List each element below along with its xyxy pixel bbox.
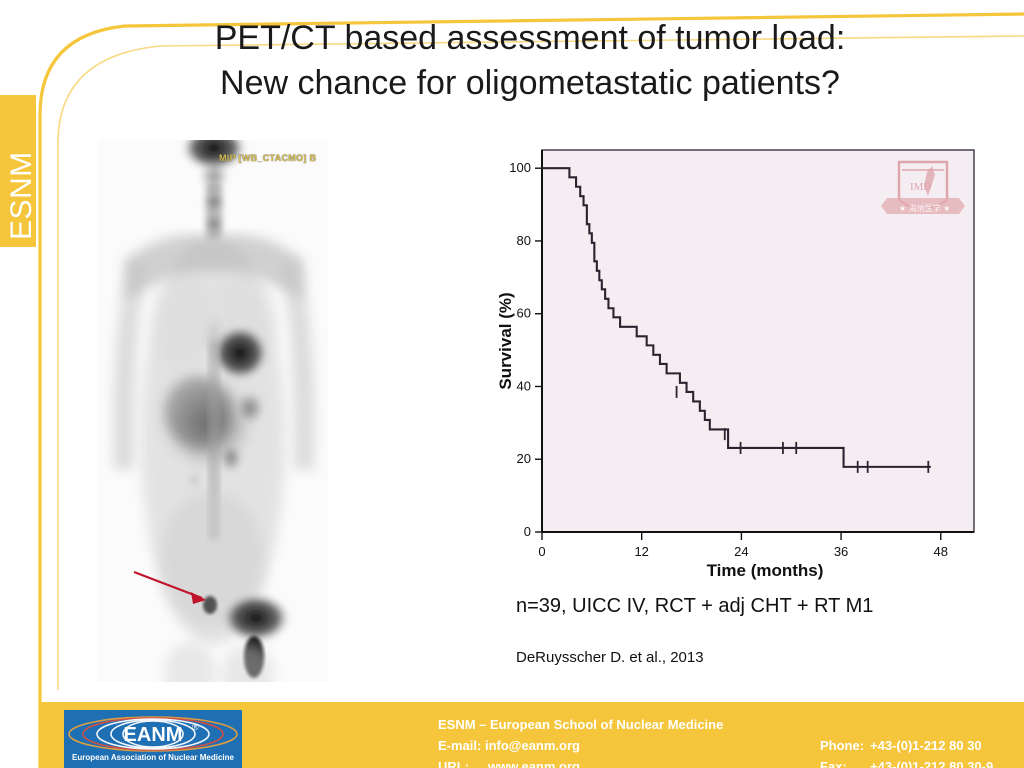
page-title-line-1: PET/CT based assessment of tumor load: [90, 16, 970, 61]
footer-org-line: ESNM – European School of Nuclear Medici… [438, 714, 723, 735]
survival-chart: IMD ★ 海纳医学 ★ 020406080100 012243648 Surv… [495, 142, 985, 582]
reference-caption: DeRuysscher D. et al., 2013 [516, 649, 704, 666]
survival-chart-svg: IMD ★ 海纳医学 ★ 020406080100 012243648 Surv… [495, 142, 985, 582]
chart-x-ticks: 012243648 [538, 532, 948, 559]
footer-fax-value: +43-(0)1-212 80 30-9 [870, 756, 993, 768]
footer-email-row: E-mail: info@eanm.org [438, 735, 723, 756]
chart-x-axis-label: Time (months) [707, 561, 824, 580]
sidebar-tab-esnm: ESNM [0, 95, 36, 247]
svg-text:100: 100 [509, 160, 531, 175]
pet-mip-graphic [98, 140, 328, 682]
page-title-line-2: New chance for oligometastatic patients? [90, 61, 970, 106]
pet-mip-image: MIP [WB_CTACMO] B [98, 140, 328, 682]
page-title: PET/CT based assessment of tumor load: N… [90, 16, 970, 106]
svg-text:20: 20 [517, 451, 531, 466]
eanm-logo-wordmark: EANM [124, 724, 183, 746]
svg-text:24: 24 [734, 544, 748, 559]
svg-text:★ 海纳医学 ★: ★ 海纳医学 ★ [899, 203, 950, 213]
slide-footer: EANM ® European Association of Nuclear M… [40, 702, 1024, 768]
eanm-logo-tagline: European Association of Nuclear Medicine [72, 753, 235, 762]
svg-text:80: 80 [517, 233, 531, 248]
svg-text:60: 60 [517, 306, 531, 321]
svg-text:48: 48 [934, 544, 948, 559]
eanm-logo: EANM ® European Association of Nuclear M… [64, 710, 242, 768]
svg-text:40: 40 [517, 378, 531, 393]
footer-phone-value: +43-(0)1-212 80 30 [870, 735, 982, 756]
sidebar-tab-label: ESNM [5, 151, 39, 240]
footer-url-value[interactable]: www.eanm.org [488, 756, 580, 768]
svg-text:0: 0 [524, 524, 531, 539]
footer-fax-row: Fax: +43-(0)1-212 80 30-9 [820, 756, 993, 768]
study-summary-caption: n=39, UICC IV, RCT + adj CHT + RT M1 [516, 595, 873, 618]
slide-canvas: ESNM PET/CT based assessment of tumor lo… [0, 0, 1024, 768]
svg-text:0: 0 [538, 544, 545, 559]
eanm-logo-graphic: EANM ® European Association of Nuclear M… [64, 710, 242, 768]
footer-email-label: E-mail: [438, 735, 481, 756]
footer-contact-right: Phone: +43-(0)1-212 80 30 Fax: +43-(0)1-… [820, 735, 993, 768]
svg-text:12: 12 [634, 544, 648, 559]
chart-y-axis-label: Survival (%) [496, 292, 515, 389]
footer-url-label: URL: [438, 756, 488, 768]
pet-overlay-label: MIP [WB_CTACMO] B [219, 153, 316, 163]
footer-contact-left: ESNM – European School of Nuclear Medici… [438, 714, 723, 768]
svg-text:IMD: IMD [910, 181, 931, 193]
footer-phone-label: Phone: [820, 735, 870, 756]
eanm-logo-registered-mark: ® [192, 722, 199, 732]
footer-email-value[interactable]: info@eanm.org [485, 735, 580, 756]
footer-fax-label: Fax: [820, 756, 870, 768]
footer-url-row: URL: www.eanm.org [438, 756, 723, 768]
footer-phone-row: Phone: +43-(0)1-212 80 30 [820, 735, 993, 756]
svg-text:36: 36 [834, 544, 848, 559]
